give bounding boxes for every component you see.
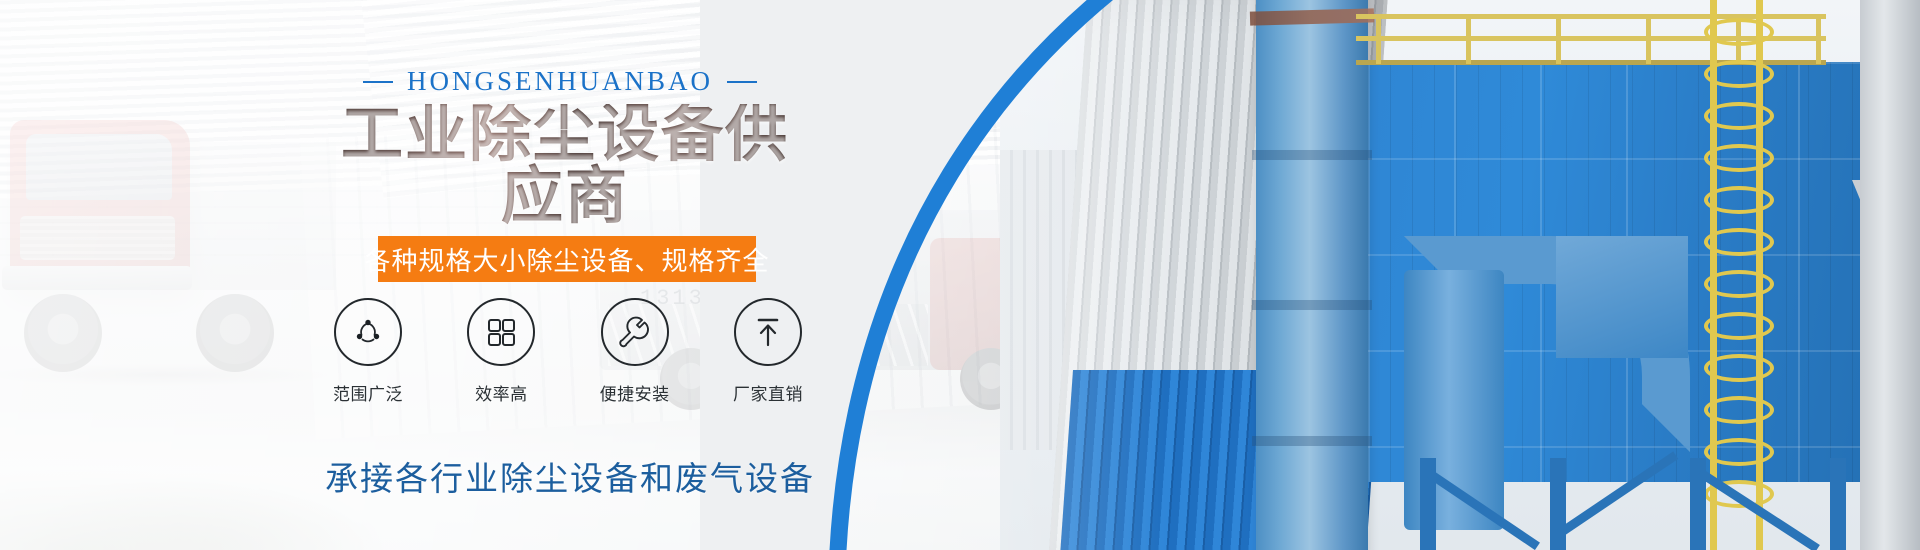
feature-item-range[interactable]: 范围广泛 (318, 298, 418, 405)
feature-list: 范围广泛 效率高 (318, 298, 818, 405)
content-column: HONGSENHUANBAO 工业除尘设备供应商 各种规格大小除尘设备、规格齐全 (0, 0, 1000, 550)
feature-item-installation[interactable]: 便捷安装 (585, 298, 685, 405)
right-equipment-photo (1000, 0, 1920, 550)
eyebrow-dash-right (727, 81, 757, 83)
eyebrow-dash-left (363, 81, 393, 83)
photo-edge-shading (1000, 0, 1920, 550)
subtitle-text: 各种规格大小除尘设备、规格齐全 (365, 241, 770, 278)
page-title: 工业除尘设备供应商 (330, 104, 800, 228)
feature-label: 便捷安装 (600, 380, 670, 405)
eyebrow-line: HONGSENHUANBAO (330, 66, 790, 97)
subtitle-banner: 各种规格大小除尘设备、规格齐全 (378, 236, 756, 282)
tagline-text: 承接各行业除尘设备和废气设备 (300, 452, 840, 500)
feature-item-efficiency[interactable]: 效率高 (451, 298, 551, 405)
feature-item-direct-sales[interactable]: 厂家直销 (718, 298, 818, 405)
eyebrow-text: HONGSENHUANBAO (407, 66, 713, 97)
wrench-icon (601, 298, 669, 366)
grid-squares-icon (467, 298, 535, 366)
feature-label: 厂家直销 (733, 380, 803, 405)
feature-label: 范围广泛 (333, 380, 403, 405)
share-network-icon (334, 298, 402, 366)
upload-arrow-icon (734, 298, 802, 366)
promo-banner: 13132 (0, 0, 1920, 550)
feature-label: 效率高 (475, 380, 528, 405)
